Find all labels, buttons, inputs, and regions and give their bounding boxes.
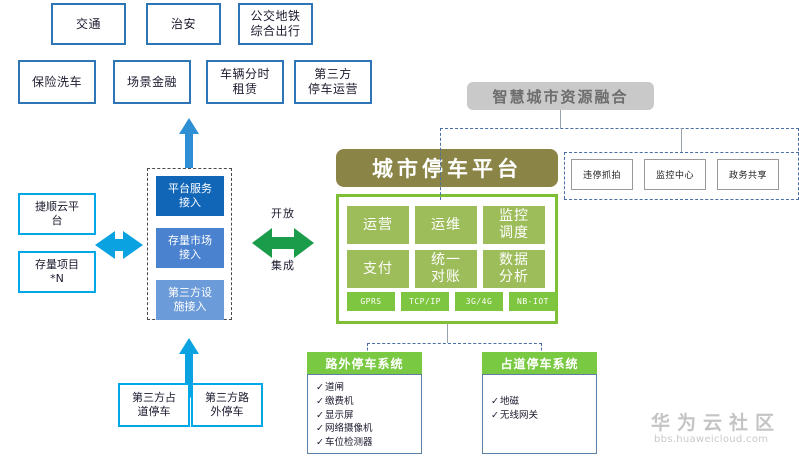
third-party-box-offstreet[interactable]: 第三方路外停车 bbox=[191, 383, 263, 427]
third-party-label: 第三方路外停车 bbox=[205, 391, 249, 419]
label-integrate: 集成 bbox=[250, 257, 316, 273]
check-icon: ✓ bbox=[316, 437, 324, 448]
eco-box-public-security[interactable]: 治安 bbox=[146, 3, 221, 45]
left-box-existing-projects[interactable]: 存量项目*N bbox=[18, 251, 96, 293]
subsystem-list-onstreet: ✓地磁 ✓无线网关 bbox=[491, 395, 596, 423]
list-item-label: 显示屏 bbox=[325, 410, 354, 421]
list-item-label: 缴费机 bbox=[325, 396, 354, 407]
eco-label: 保险洗车 bbox=[32, 75, 82, 90]
eco-label: 治安 bbox=[171, 17, 196, 32]
subsystem-title: 路外停车系统 bbox=[325, 355, 403, 372]
smart-city-label: 监控中心 bbox=[656, 168, 694, 181]
eco-label: 第三方停车运营 bbox=[308, 67, 358, 97]
protocol-tcpip: TCP/IP bbox=[401, 292, 449, 311]
protocol-3g4g: 3G/4G bbox=[455, 292, 503, 311]
arrow-open-integrate bbox=[252, 228, 314, 258]
arrow-left-to-access bbox=[95, 231, 143, 259]
module-label: 统一对账 bbox=[431, 252, 461, 286]
third-party-box-onstreet[interactable]: 第三方占道停车 bbox=[118, 383, 190, 427]
list-item: ✓地磁 bbox=[491, 395, 596, 409]
platform-title: 城市停车平台 bbox=[372, 153, 522, 183]
smart-city-inner-top bbox=[564, 152, 799, 153]
subsystem-title: 占道停车系统 bbox=[500, 355, 578, 372]
list-item: ✓缴费机 bbox=[316, 395, 421, 409]
eco-box-third-party-operation[interactable]: 第三方停车运营 bbox=[294, 60, 372, 104]
list-item: ✓显示屏 bbox=[316, 409, 421, 423]
smart-city-box-violation-capture[interactable]: 违停抓拍 bbox=[571, 159, 633, 190]
list-item-label: 网络摄像机 bbox=[325, 423, 373, 434]
module-label: 支付 bbox=[363, 261, 393, 278]
smart-city-label: 违停抓拍 bbox=[583, 168, 621, 181]
eco-label: 场景金融 bbox=[127, 75, 177, 90]
module-label: 运维 bbox=[431, 217, 461, 234]
protocol-label: 3G/4G bbox=[466, 297, 493, 306]
access-label: 第三方设施接入 bbox=[168, 286, 212, 315]
access-label: 存量市场接入 bbox=[168, 234, 212, 263]
platform-down-stem bbox=[447, 324, 448, 343]
check-icon: ✓ bbox=[316, 423, 324, 434]
left-box-jieshun-cloud[interactable]: 捷顺云平台 bbox=[18, 193, 96, 235]
third-party-label: 第三方占道停车 bbox=[132, 391, 176, 419]
list-item-label: 车位检测器 bbox=[325, 437, 373, 448]
module-operation[interactable]: 运营 bbox=[347, 206, 409, 244]
module-unified-reconciliation[interactable]: 统一对账 bbox=[415, 250, 477, 288]
list-item: ✓车位检测器 bbox=[316, 436, 421, 450]
access-box-third-party-facility[interactable]: 第三方设施接入 bbox=[156, 280, 224, 320]
list-item-label: 道闸 bbox=[325, 382, 344, 393]
watermark-title: 华为云社区 bbox=[651, 408, 781, 435]
smart-city-stem bbox=[560, 110, 561, 128]
list-item-label: 无线网关 bbox=[500, 410, 538, 421]
check-icon: ✓ bbox=[316, 410, 324, 421]
check-icon: ✓ bbox=[491, 396, 499, 407]
left-box-label: 捷顺云平台 bbox=[35, 200, 79, 228]
access-box-platform-service[interactable]: 平台服务接入 bbox=[156, 176, 224, 216]
smart-city-bracket-left bbox=[440, 128, 441, 200]
module-label: 数据分析 bbox=[499, 252, 529, 286]
module-data-analysis[interactable]: 数据分析 bbox=[483, 250, 545, 288]
module-monitoring-dispatch[interactable]: 监控调度 bbox=[483, 206, 545, 244]
list-item: ✓网络摄像机 bbox=[316, 422, 421, 436]
protocol-gprs: GPRS bbox=[347, 292, 395, 311]
module-label: 运营 bbox=[363, 217, 393, 234]
protocol-label: NB-IOT bbox=[517, 297, 549, 306]
eco-box-insurance-carwash[interactable]: 保险洗车 bbox=[18, 60, 96, 104]
smart-city-bracket-top bbox=[440, 128, 799, 129]
subsystem-header-offstreet: 路外停车系统 bbox=[307, 352, 422, 374]
eco-box-transit-mobility[interactable]: 公交地铁综合出行 bbox=[238, 3, 313, 45]
smart-city-inner-stem bbox=[681, 128, 682, 152]
subsystem-list-offstreet: ✓道闸 ✓缴费机 ✓显示屏 ✓网络摄像机 ✓车位检测器 bbox=[316, 381, 421, 450]
smart-city-title: 智慧城市资源融合 bbox=[492, 86, 628, 107]
smart-city-inner-bottom bbox=[564, 199, 799, 200]
access-box-existing-market[interactable]: 存量市场接入 bbox=[156, 228, 224, 268]
subsystem-body-offstreet: ✓道闸 ✓缴费机 ✓显示屏 ✓网络摄像机 ✓车位检测器 bbox=[307, 374, 422, 454]
left-box-label: 存量项目*N bbox=[35, 258, 79, 286]
module-label: 监控调度 bbox=[499, 208, 529, 242]
subsystem-header-onstreet: 占道停车系统 bbox=[482, 352, 597, 374]
diagram-canvas: 交通 治安 公交地铁综合出行 保险洗车 场景金融 车辆分时租赁 第三方停车运营 … bbox=[0, 0, 799, 458]
subsystem-bus bbox=[367, 343, 542, 344]
protocol-label: GPRS bbox=[360, 297, 381, 306]
protocol-label: TCP/IP bbox=[409, 297, 441, 306]
module-payment[interactable]: 支付 bbox=[347, 250, 409, 288]
module-maintenance[interactable]: 运维 bbox=[415, 206, 477, 244]
list-item-label: 地磁 bbox=[500, 396, 519, 407]
protocol-nbiot: NB-IOT bbox=[509, 292, 557, 311]
smart-city-box-monitoring-center[interactable]: 监控中心 bbox=[644, 159, 706, 190]
eco-box-car-sharing[interactable]: 车辆分时租赁 bbox=[206, 60, 284, 104]
subsystem-body-onstreet: ✓地磁 ✓无线网关 bbox=[482, 374, 597, 454]
list-item: ✓道闸 bbox=[316, 381, 421, 395]
check-icon: ✓ bbox=[316, 396, 324, 407]
smart-city-box-government-sharing[interactable]: 政务共享 bbox=[717, 159, 779, 190]
check-icon: ✓ bbox=[316, 382, 324, 393]
eco-label: 车辆分时租赁 bbox=[220, 67, 270, 97]
check-icon: ✓ bbox=[491, 410, 499, 421]
platform-header: 城市停车平台 bbox=[336, 149, 558, 187]
access-label: 平台服务接入 bbox=[168, 182, 212, 211]
eco-box-scenario-finance[interactable]: 场景金融 bbox=[113, 60, 191, 104]
eco-box-transport[interactable]: 交通 bbox=[51, 3, 126, 45]
smart-city-header: 智慧城市资源融合 bbox=[467, 82, 654, 110]
smart-city-label: 政务共享 bbox=[729, 168, 767, 181]
smart-city-inner-left bbox=[564, 152, 565, 199]
eco-label: 交通 bbox=[76, 17, 101, 32]
eco-label: 公交地铁综合出行 bbox=[250, 9, 300, 39]
label-open: 开放 bbox=[250, 205, 316, 221]
list-item: ✓无线网关 bbox=[491, 409, 596, 423]
watermark-url: bbs.huaweicloud.com bbox=[654, 434, 768, 445]
